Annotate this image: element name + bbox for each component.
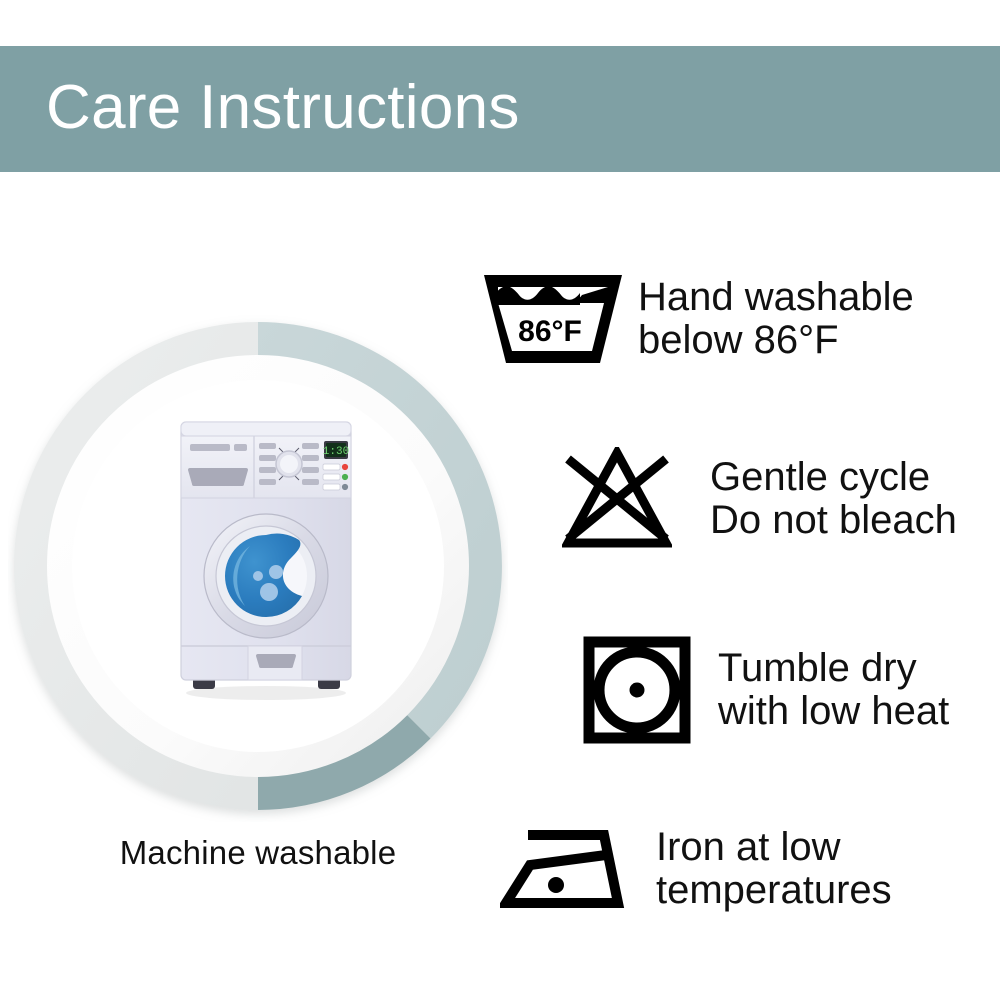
display-value: 1:30 — [323, 446, 349, 458]
care-text-line-2: with low heat — [718, 690, 1000, 733]
hand-wash-basin-icon: 86°F — [478, 269, 628, 369]
detergent-slot-b — [234, 444, 247, 451]
program-dial-knob[interactable] — [280, 455, 298, 473]
care-text-line-1: Hand washable — [638, 276, 1000, 319]
detergent-slot-a — [190, 444, 230, 451]
indicator-light-red — [342, 464, 348, 470]
detergent-drawer-handle — [188, 468, 248, 486]
care-text-line-1: Iron at low — [656, 826, 1000, 869]
care-item-hand-wash: 86°F Hand washable below 86°F — [470, 264, 1000, 374]
indicator-light-green — [342, 474, 348, 480]
care-item-do-not-bleach-text: Gentle cycle Do not bleach — [710, 456, 1000, 542]
care-text-line-2: temperatures — [656, 869, 1000, 912]
indicator-buttons[interactable] — [323, 464, 340, 490]
machine-washable-block: 1:30 Machin — [8, 310, 508, 822]
care-item-tumble-dry-text: Tumble dry with low heat — [718, 647, 1000, 733]
header-banner: Care Instructions — [0, 46, 1000, 172]
care-text-line-1: Tumble dry — [718, 647, 1000, 690]
care-item-iron: Iron at low temperatures — [470, 814, 1000, 924]
washing-machine-illustration: 1:30 — [166, 410, 366, 710]
care-symbol-list: 86°F Hand washable below 86°F Gentle cyc… — [470, 258, 1000, 938]
care-text-line-2: below 86°F — [638, 319, 1000, 362]
hand-wash-temperature-label: 86°F — [518, 315, 582, 348]
care-item-iron-text: Iron at low temperatures — [656, 826, 1000, 912]
care-text-line-1: Gentle cycle — [710, 456, 1000, 499]
tumble-dry-low-heat-icon — [562, 636, 712, 744]
care-text-line-2: Do not bleach — [710, 499, 1000, 542]
bubble-small — [253, 571, 263, 581]
indicator-light-gray — [342, 484, 348, 490]
do-not-bleach-triangle-icon — [542, 447, 692, 551]
machine-washable-caption: Machine washable — [8, 834, 508, 872]
page-title: Care Instructions — [46, 77, 520, 139]
bottom-drawer-handle[interactable] — [256, 654, 296, 668]
iron-low-temperature-icon — [488, 827, 638, 911]
care-item-hand-wash-text: Hand washable below 86°F — [638, 276, 1000, 362]
washer-top-lid — [181, 422, 351, 436]
care-item-tumble-dry: Tumble dry with low heat — [470, 630, 1000, 750]
care-item-do-not-bleach: Gentle cycle Do not bleach — [470, 444, 1000, 554]
bubble-large — [260, 583, 278, 601]
bubble-medium — [269, 565, 283, 579]
